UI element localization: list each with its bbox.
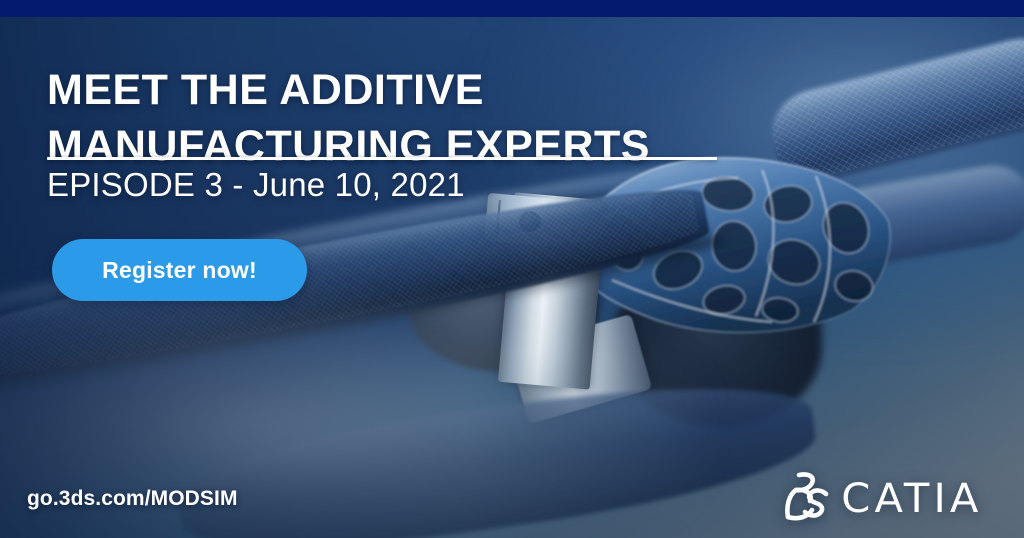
title-divider (47, 157, 717, 160)
catia-wordmark: CATIA (842, 476, 983, 522)
campaign-url[interactable]: go.3ds.com/MODSIM (27, 487, 238, 511)
banner-content: MEET THE ADDITIVE MANUFACTURING EXPERTS … (0, 0, 1024, 538)
register-now-button[interactable]: Register now! (52, 239, 307, 301)
headline-line-1: MEET THE ADDITIVE (47, 63, 747, 119)
episode-subtitle: EPISODE 3 - June 10, 2021 (47, 166, 465, 204)
3ds-compass-icon (782, 470, 830, 527)
promo-banner: MEET THE ADDITIVE MANUFACTURING EXPERTS … (0, 0, 1024, 538)
catia-logo: CATIA (782, 470, 980, 527)
